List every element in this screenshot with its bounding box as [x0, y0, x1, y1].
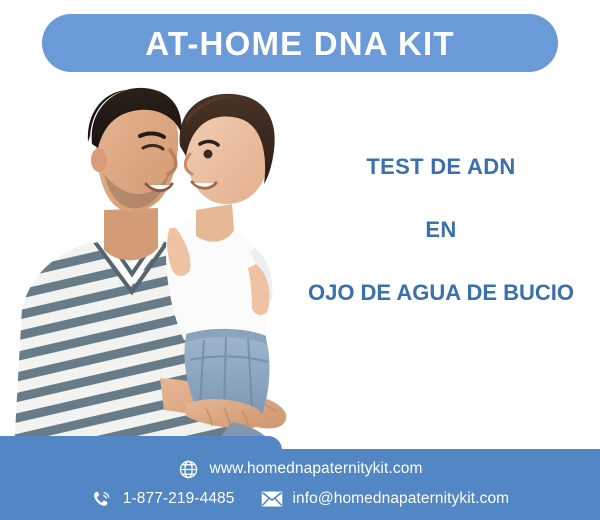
phone-icon [91, 488, 113, 510]
footer-bar: www.homednapaternitykit.com 1-877-219-44… [0, 436, 600, 520]
email-item[interactable]: info@homednapaternitykit.com [261, 488, 510, 510]
phone-item[interactable]: 1-877-219-4485 [91, 488, 235, 510]
envelope-icon [261, 488, 283, 510]
headline-block: TEST DE ADN EN OJO DE AGUA DE BUCIO [286, 155, 596, 304]
email-text: info@homednapaternitykit.com [293, 490, 510, 508]
hero-photo [0, 78, 310, 450]
website-text: www.homednapaternitykit.com [210, 460, 423, 478]
footer-contact-rows: www.homednapaternitykit.com 1-877-219-44… [0, 436, 600, 520]
globe-icon [178, 458, 200, 480]
title-pill: AT-HOME DNA KIT [42, 14, 558, 72]
banner-title: AT-HOME DNA KIT [145, 27, 454, 60]
phone-text: 1-877-219-4485 [123, 490, 235, 508]
website-item[interactable]: www.homednapaternitykit.com [178, 458, 423, 480]
footer-website-row: www.homednapaternitykit.com [0, 458, 600, 480]
headline-line-3: OJO DE AGUA DE BUCIO [286, 281, 596, 304]
father-and-child-photo [0, 78, 310, 450]
footer-phone-email-row: 1-877-219-4485 info@homednapaternitykit.… [0, 488, 600, 510]
headline-line-1: TEST DE ADN [286, 155, 596, 178]
headline-line-2: EN [286, 218, 596, 241]
promo-banner: AT-HOME DNA KIT [0, 0, 600, 520]
